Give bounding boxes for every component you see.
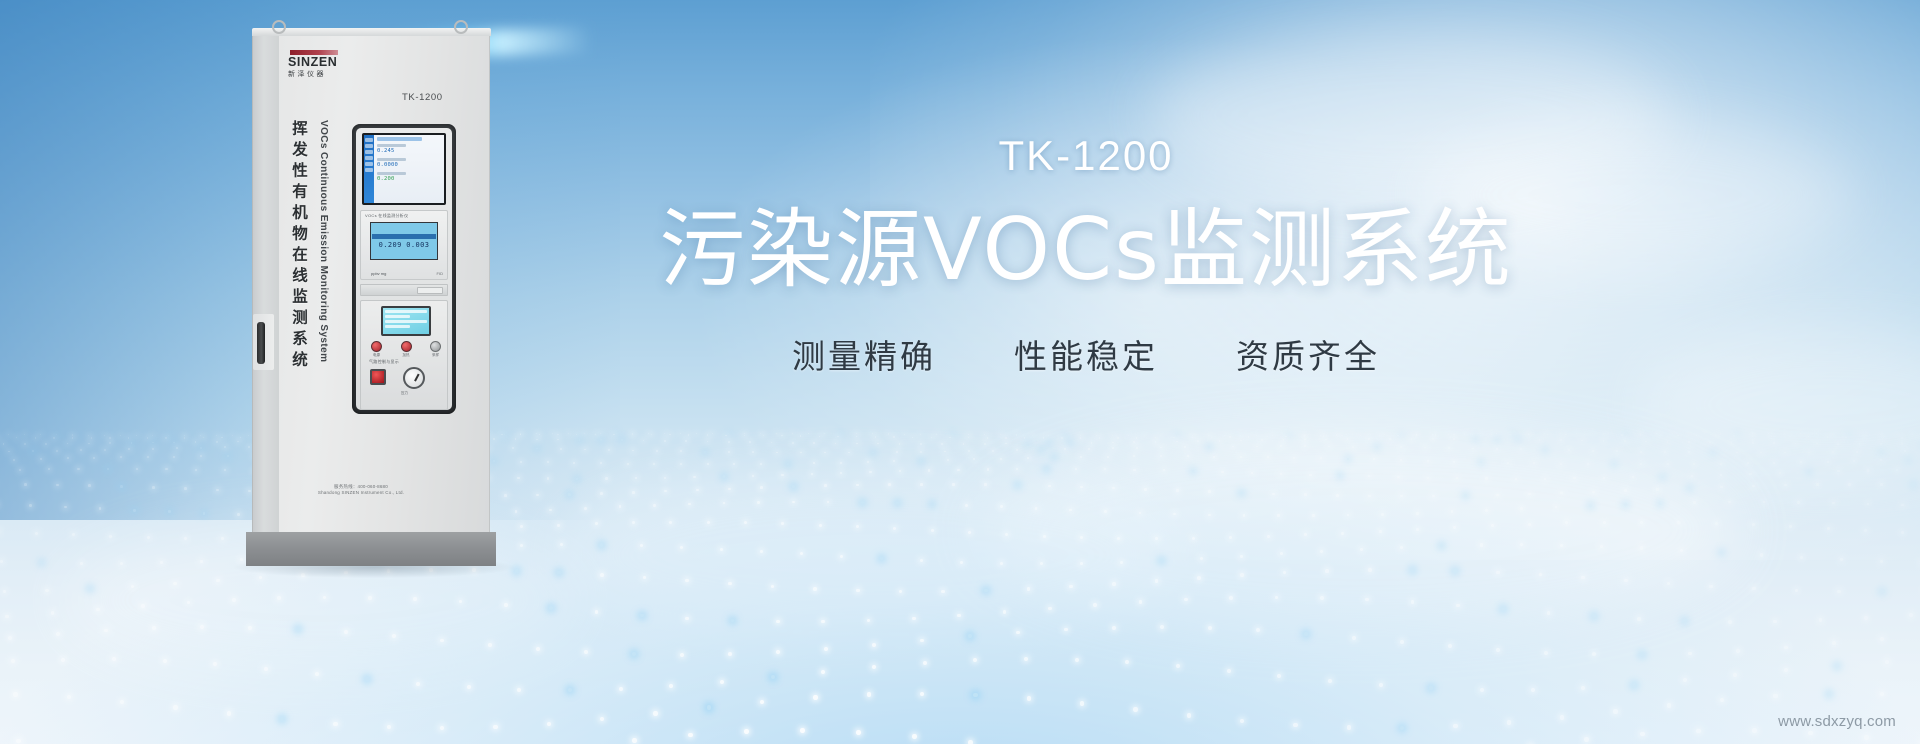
pressure-gauge-label: 压力 <box>401 391 408 396</box>
hmi-title-bar <box>377 137 422 141</box>
control-panel-screen <box>381 306 431 336</box>
knob-heater-group: 加热 <box>401 341 412 358</box>
analyzer-title-bar <box>372 234 436 239</box>
hmi-menu-icon <box>365 138 373 142</box>
knob-sampling-label: 采样 <box>430 353 441 358</box>
analyzer-screen: 0.209 0.003 <box>370 222 438 260</box>
analyzer-reading: 0.209 0.003 <box>371 241 437 249</box>
knob-sampling-icon <box>430 341 441 352</box>
hmi-row: 0.200 <box>377 172 441 183</box>
control-panel: 电源 加热 采样 气路控制与显示 压力 <box>360 300 448 410</box>
knob-power-label: 电源 <box>371 353 382 358</box>
hmi-row: 0.245 <box>377 144 441 155</box>
control-screen-line <box>385 315 410 318</box>
cabinet-base-plinth <box>246 532 496 566</box>
hmi-value-3: 0.200 <box>377 175 441 183</box>
hmi-sidebar <box>364 135 374 203</box>
hmi-menu-icon <box>365 162 373 166</box>
control-screen-line <box>385 310 427 313</box>
drawer-button <box>417 287 443 294</box>
cabinet-left-side-panel <box>252 32 280 532</box>
banner-stage: SINZEN 新泽仪器 TK-1200 挥发性有机物在线监测系统 VOCs Co… <box>0 0 1920 744</box>
site-watermark: www.sdxzyq.com <box>1778 713 1896 730</box>
hmi-menu-icon <box>365 156 373 160</box>
feature-item-1: 测量精确 <box>792 330 936 378</box>
knob-heater-label: 加热 <box>401 353 412 358</box>
control-knob-group: 电源 加热 采样 <box>371 341 441 358</box>
knob-sampling-group: 采样 <box>430 341 441 358</box>
banner-headline: 污染源VOCs监测系统 <box>556 200 1616 300</box>
emergency-stop-icon <box>370 369 386 385</box>
brand-name: SINZEN <box>288 56 360 69</box>
lifting-eye-icon <box>454 20 468 34</box>
product-cabinet-image: SINZEN 新泽仪器 TK-1200 挥发性有机物在线监测系统 VOCs Co… <box>252 28 502 544</box>
service-company: Shandong SINZEN Instrument Co., Ltd. <box>286 490 436 496</box>
hmi-value-1: 0.245 <box>377 147 441 155</box>
hmi-menu-icon <box>365 150 373 154</box>
cabinet-vertical-english-text: VOCs Continuous Emission Monitoring Syst… <box>318 120 329 362</box>
hmi-menu-icon <box>365 168 373 172</box>
feature-list: 测量精确 性能稳定 资质齐全 <box>556 330 1616 378</box>
hmi-screen: 0.245 0.0000 0.200 <box>364 135 444 203</box>
product-model: TK-1200 <box>556 132 1616 180</box>
cabinet-vertical-chinese-text: 挥发性有机物在线监测系统 <box>288 120 310 372</box>
lifting-eye-icon <box>272 20 286 34</box>
instrument-bay-frame: 0.245 0.0000 0.200 <box>352 124 456 414</box>
banner-copy-block: TK-1200 污染源VOCs监测系统 测量精确 性能稳定 资质齐全 <box>556 132 1616 378</box>
analyzer-module: VOCs 在线监测分析仪 0.209 0.003 ppbv mg FID <box>360 210 448 280</box>
feature-item-3: 资质齐全 <box>1236 330 1380 378</box>
hmi-menu-icon <box>365 144 373 148</box>
instrument-bay-inner: 0.245 0.0000 0.200 <box>356 128 452 410</box>
instrument-drawer-slot <box>360 284 448 296</box>
control-screen-line <box>385 325 410 328</box>
knob-heater-icon <box>401 341 412 352</box>
analyzer-unit: ppbv mg <box>371 271 386 276</box>
control-screen-line <box>385 320 427 323</box>
pressure-gauge-icon <box>403 367 425 389</box>
knob-power-icon <box>371 341 382 352</box>
brand-logo: SINZEN 新泽仪器 <box>288 50 360 79</box>
control-panel-caption: 气路控制与显示 <box>369 359 399 365</box>
hmi-touch-panel: 0.245 0.0000 0.200 <box>362 133 446 205</box>
analyzer-badge: FID <box>437 271 443 276</box>
door-handle-grip <box>257 322 265 364</box>
feature-item-2: 性能稳定 <box>1014 330 1158 378</box>
hmi-row: 0.0000 <box>377 158 441 169</box>
knob-power-group: 电源 <box>371 341 382 358</box>
hmi-value-2: 0.0000 <box>377 161 441 169</box>
cabinet-service-plate: 服务热线：400-060-8680 Shandong SINZEN Instru… <box>286 484 436 496</box>
brand-name-chinese: 新泽仪器 <box>288 70 360 79</box>
cabinet-model-label: TK-1200 <box>402 92 443 103</box>
hmi-readout-body: 0.245 0.0000 0.200 <box>374 135 444 203</box>
analyzer-caption: VOCs 在线监测分析仪 <box>361 211 447 219</box>
